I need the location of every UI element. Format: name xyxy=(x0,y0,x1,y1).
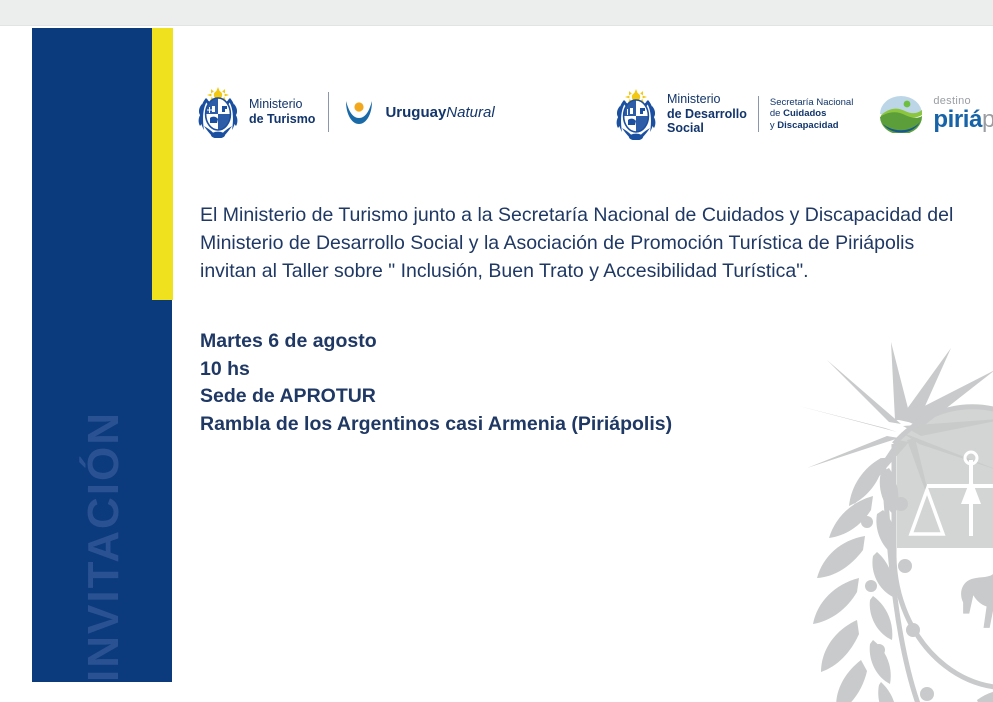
mides-line2: de Desarrollo xyxy=(667,107,747,122)
mides-line1: Ministerio xyxy=(667,92,747,107)
logo-group-turismo: Ministerio de Turismo UruguayNatural xyxy=(196,86,495,138)
left-navy-band xyxy=(32,28,172,682)
event-details: Martes 6 de agosto 10 hs Sede de APROTUR… xyxy=(200,328,820,439)
event-venue: Sede de APROTUR xyxy=(200,383,820,411)
piriapolis-word-grey: polis xyxy=(982,106,993,133)
secretaria-line2-bold: Cuidados xyxy=(783,108,826,119)
event-time: 10 hs xyxy=(200,356,820,384)
logo-divider xyxy=(328,92,329,132)
piriapolis-word: piriápolis xyxy=(933,108,993,132)
mides-wordmark: Ministerio de Desarrollo Social xyxy=(667,92,747,136)
invitation-page: INVITACIÓN xyxy=(0,26,993,702)
uruguay-natural-icon xyxy=(342,95,376,129)
uruguay-natural-word2: Natural xyxy=(446,104,494,121)
secretaria-line1: Secretaría Nacional xyxy=(770,97,853,108)
turismo-line2: de Turismo xyxy=(249,112,315,127)
event-date: Martes 6 de agosto xyxy=(200,328,820,356)
secretaria-line3-bold: Discapacidad xyxy=(777,120,838,131)
turismo-wordmark: Ministerio de Turismo xyxy=(249,97,315,127)
logo-divider xyxy=(758,96,759,132)
logo-header-row: Ministerio de Turismo UruguayNatural xyxy=(196,78,993,158)
uruguay-natural-word1: Uruguay xyxy=(385,104,446,121)
window-top-band xyxy=(0,0,993,26)
invitation-paragraph: El Ministerio de Turismo junto a la Secr… xyxy=(200,202,968,286)
uruguay-coat-of-arms-icon xyxy=(614,88,658,140)
destino-piriapolis-logo: destino piriápolis xyxy=(879,95,993,133)
secretaria-line3: y Discapacidad xyxy=(770,120,853,131)
invitation-paragraph-text: El Ministerio de Turismo junto a la Secr… xyxy=(200,202,968,286)
turismo-line1: Ministerio xyxy=(249,97,315,112)
yellow-accent-bar xyxy=(152,28,173,300)
mides-line3: Social xyxy=(667,121,747,136)
piriapolis-word-blue: piriá xyxy=(933,106,982,133)
event-address: Rambla de los Argentinos casi Armenia (P… xyxy=(200,411,820,439)
logo-group-mides: Ministerio de Desarrollo Social Secretar… xyxy=(614,88,993,140)
secretaria-line2-prefix: de xyxy=(770,108,783,119)
uruguay-natural-wordmark: UruguayNatural xyxy=(385,104,494,121)
destino-piriapolis-wordmark: destino piriápolis xyxy=(933,96,993,132)
secretaria-wordmark: Secretaría Nacional de Cuidados y Discap… xyxy=(770,97,853,131)
secretaria-line2: de Cuidados xyxy=(770,108,853,119)
uruguay-coat-of-arms-icon xyxy=(196,86,240,138)
piriapolis-hills-icon xyxy=(879,95,923,133)
